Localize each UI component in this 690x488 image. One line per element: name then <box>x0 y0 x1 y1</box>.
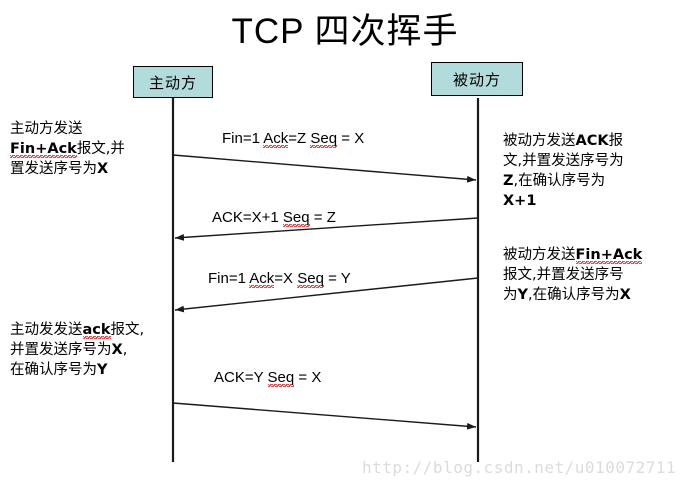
note-left-bottom: 主动发发送ack报文, 并置发送序号为X, 在确认序号为Y <box>10 320 144 380</box>
actor-box-responder[interactable]: 被动方 <box>431 62 523 96</box>
note-right-bottom-line-1: 被动方发送Fin+Ack <box>503 245 642 265</box>
note-right-bottom: 被动方发送Fin+Ack 报文,并置发送序号 为Y,在确认序号为X <box>503 245 642 305</box>
note-left-bottom-line-2: 并置发送序号为X, <box>10 340 144 360</box>
actor-label-initiator: 主动方 <box>149 72 197 93</box>
message-label-4: ACK=Y Seq = X <box>214 369 321 386</box>
note-left-top: 主动方发送 Fin+Ack报文,并 置发送序号为X <box>10 119 125 179</box>
message-arrow-4 <box>173 403 476 427</box>
note-left-top-line-1: 主动方发送 <box>10 119 125 139</box>
note-right-top-line-4: X+1 <box>503 191 624 211</box>
message-label-3: Fin=1 Ack=X Seq = Y <box>208 270 351 287</box>
note-left-bottom-line-1: 主动发发送ack报文, <box>10 320 144 340</box>
note-right-top-line-3: Z,在确认序号为 <box>503 171 624 191</box>
diagram-canvas: TCP 四次挥手 主动方 被动方 Fin=1 Ack=Z Seq = X ACK… <box>0 0 690 488</box>
actor-label-responder: 被动方 <box>453 69 501 90</box>
note-right-bottom-line-3: 为Y,在确认序号为X <box>503 285 642 305</box>
note-right-top: 被动方发送ACK报 文,并置发送序号为 Z,在确认序号为 X+1 <box>503 131 624 211</box>
sequence-diagram-lines <box>0 0 690 488</box>
watermark-url: http://blog.csdn.net/u010072711 <box>362 458 676 477</box>
message-label-2: ACK=X+1 Seq = Z <box>212 209 336 226</box>
note-left-bottom-line-3: 在确认序号为Y <box>10 360 144 380</box>
note-right-bottom-line-2: 报文,并置发送序号 <box>503 265 642 285</box>
message-label-1: Fin=1 Ack=Z Seq = X <box>222 130 364 147</box>
note-right-top-line-1: 被动方发送ACK报 <box>503 131 624 151</box>
note-left-top-line-2: Fin+Ack报文,并 <box>10 139 125 159</box>
actor-box-initiator[interactable]: 主动方 <box>133 66 213 98</box>
message-arrow-1 <box>173 155 476 180</box>
note-right-top-line-2: 文,并置发送序号为 <box>503 151 624 171</box>
note-left-top-line-3: 置发送序号为X <box>10 159 125 179</box>
